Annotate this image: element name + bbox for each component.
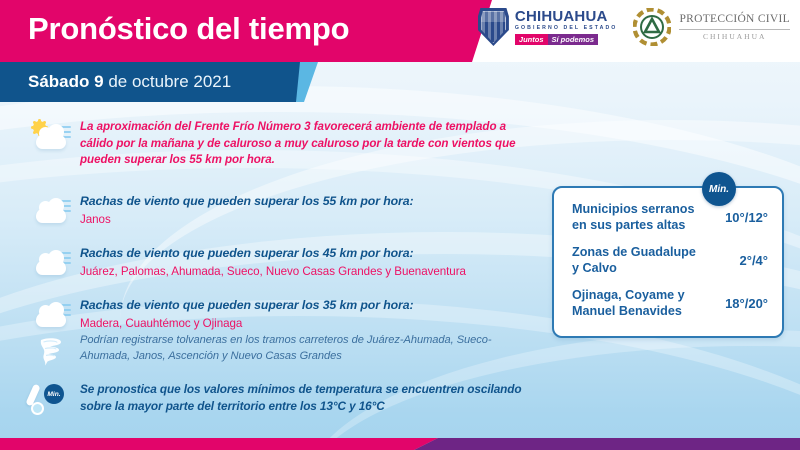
chihuahua-tagline-first: Juntos: [515, 34, 548, 45]
table-row: Municipios serranos en sus partes altas …: [572, 201, 768, 233]
temperature-place: Municipios serranos en sus partes altas: [572, 201, 704, 233]
proteccion-civil-name: PROTECCIÓN CIVIL: [679, 14, 790, 26]
chihuahua-logo-subtitle: GOBIERNO DEL ESTADO: [515, 26, 618, 31]
chihuahua-logo-name: CHIHUAHUA: [515, 9, 618, 24]
wind-places-35: Madera, Cuauhtémoc y Ojinaga: [80, 315, 413, 332]
chihuahua-shield-icon: [478, 8, 509, 46]
temperature-value: 10°/12°: [725, 210, 768, 225]
proteccion-civil-divider: [679, 29, 790, 30]
minimum-temperature-row: Min. Se pronostica que los valores mínim…: [22, 380, 522, 416]
weather-forecast-poster: Pronóstico del tiempo Sábado 9 de octubr…: [0, 0, 800, 450]
temperature-place: Ojinaga, Coyame y Manuel Benavides: [572, 287, 704, 319]
sun-behind-cloud-icon: [22, 118, 80, 154]
chihuahua-tagline-second: Sí podemos: [548, 34, 599, 45]
proteccion-civil-subtitle: CHIHUAHUA: [703, 33, 766, 41]
temperature-value: 18°/20°: [725, 296, 768, 311]
temperature-place: Zonas de Guadalupe y Calvo: [572, 244, 704, 276]
forecast-date-rest: de octubre 2021: [104, 72, 232, 91]
dust-storm-row: Podrían registrarse tolvaneras en los tr…: [22, 332, 522, 368]
forecast-date-day: Sábado 9: [28, 72, 104, 91]
minimum-temperature-text: Se pronostica que los valores mínimos de…: [80, 381, 522, 414]
footer-purple-segment: [414, 438, 800, 450]
wind-section-55: Rachas de viento que pueden superar los …: [22, 192, 522, 228]
wind-section-45: Rachas de viento que pueden superar los …: [22, 244, 522, 280]
wind-places-55: Janos: [80, 211, 413, 228]
forecast-date: Sábado 9 de octubre 2021: [28, 62, 231, 102]
thermometer-min-badge: Min.: [44, 384, 64, 404]
table-row: Zonas de Guadalupe y Calvo 2°/4°: [572, 244, 768, 276]
temperature-panel: Municipios serranos en sus partes altas …: [552, 186, 784, 338]
chihuahua-government-logo: CHIHUAHUA GOBIERNO DEL ESTADO Juntos Sí …: [478, 8, 618, 46]
forecast-lead-row: La aproximación del Frente Frío Número 3…: [22, 118, 522, 169]
cloud-wind-icon: [22, 244, 80, 280]
lead-text-before: La aproximación del: [80, 120, 194, 133]
dust-storm-text: Podrían registrarse tolvaneras en los tr…: [80, 333, 522, 364]
wind-section-35: Rachas de viento que pueden superar los …: [22, 296, 522, 332]
footer-bar: [0, 438, 800, 450]
wind-heading-55: Rachas de viento que pueden superar los …: [80, 193, 413, 209]
cloud-wind-icon: [22, 296, 80, 332]
temperature-value: 2°/4°: [740, 253, 768, 268]
wind-heading-35: Rachas de viento que pueden superar los …: [80, 297, 413, 313]
temperature-panel-min-badge: Min.: [702, 172, 736, 206]
civil-protection-triangle-icon: [633, 8, 671, 46]
page-title: Pronóstico del tiempo: [28, 6, 349, 52]
footer-pink-segment: [0, 438, 438, 450]
cloud-wind-icon: [22, 192, 80, 228]
lead-highlight: Frente Frío Número 3: [194, 120, 310, 133]
wind-places-45: Juárez, Palomas, Ahumada, Sueco, Nuevo C…: [80, 263, 466, 280]
wind-heading-45: Rachas de viento que pueden superar los …: [80, 245, 466, 261]
table-row: Ojinaga, Coyame y Manuel Benavides 18°/2…: [572, 287, 768, 319]
header: Pronóstico del tiempo Sábado 9 de octubr…: [0, 0, 800, 112]
logo-group: CHIHUAHUA GOBIERNO DEL ESTADO Juntos Sí …: [478, 8, 790, 46]
forecast-lead-text: La aproximación del Frente Frío Número 3…: [80, 119, 522, 169]
thermometer-min-icon: Min.: [22, 380, 80, 416]
proteccion-civil-logo: PROTECCIÓN CIVIL CHIHUAHUA: [633, 8, 790, 46]
tornado-dust-icon: [22, 332, 80, 368]
